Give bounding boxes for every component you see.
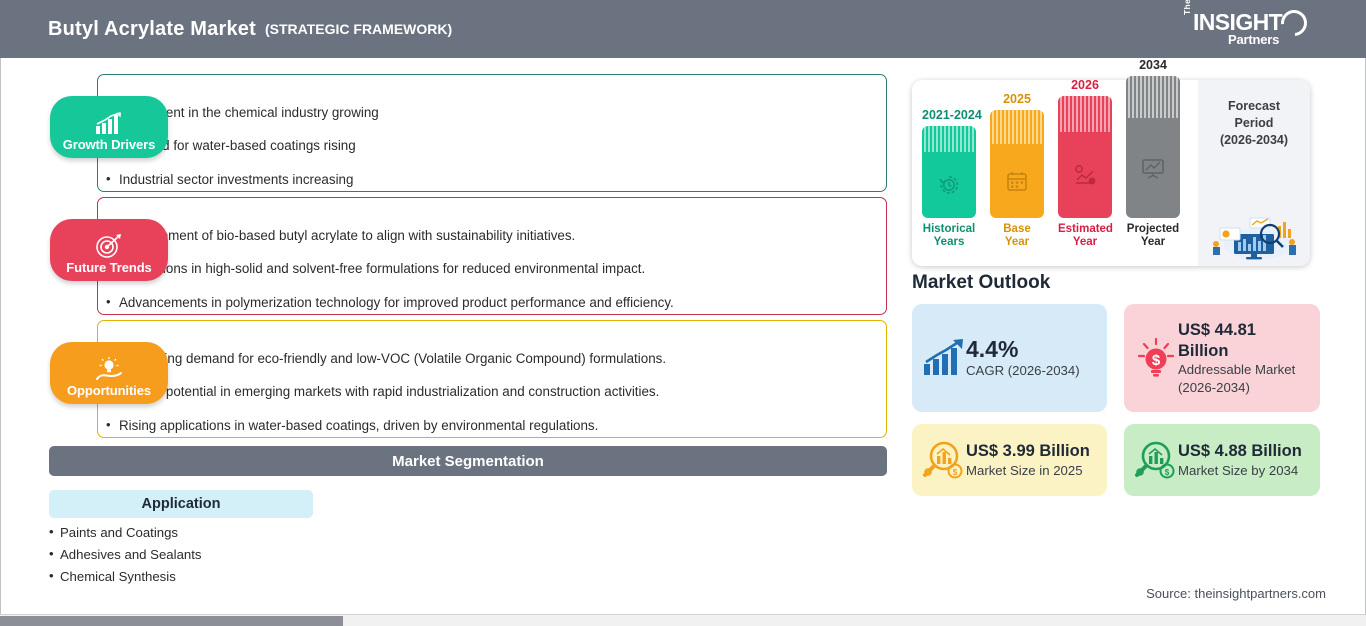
factor-badge-future-trends[interactable]: Future Trends	[50, 219, 168, 281]
page-subtitle: (STRATEGIC FRAMEWORK)	[265, 21, 452, 37]
timeline-column-historical: 2021-2024	[922, 109, 976, 249]
timeline-column-estimated: 2026	[1058, 79, 1112, 249]
outlook-card-label: Market Size in 2025	[966, 462, 1090, 479]
outlook-card-cagr: 4.4% CAGR (2026-2034)	[912, 304, 1107, 412]
forecast-period-panel: Forecast Period (2026-2034)	[1198, 80, 1310, 266]
list-item: Expanding demand for eco-friendly and lo…	[106, 352, 666, 365]
content-area: Investment in the chemical industry grow…	[0, 58, 1366, 614]
outlook-card-market-size-2025: $ US$ 3.99 Billion Market Size in 2025	[912, 424, 1107, 496]
timeline-caption: HistoricalYears	[922, 223, 976, 249]
timeline-year: 2026	[1058, 79, 1112, 92]
list-item: Advancements in polymerization technolog…	[106, 296, 674, 309]
scrollbar-thumb[interactable]	[0, 616, 343, 626]
outlook-card-label: Addressable Market (2026-2034)	[1178, 361, 1310, 395]
segment-category-label: Application	[142, 496, 221, 512]
calendar-icon	[990, 144, 1044, 218]
svg-text:$: $	[1165, 468, 1170, 477]
bar-chart-growth-icon	[94, 110, 124, 136]
market-outlook-title: Market Outlook	[912, 272, 1050, 294]
outlook-card-addressable-market: $ US$ 44.81 Billion Addressable Market (…	[1124, 304, 1320, 412]
outlook-card-text: US$ 4.88 Billion Market Size by 2034	[1178, 441, 1302, 479]
list-item: Rising applications in water-based coati…	[106, 419, 666, 432]
insight-partners-logo: The INSIGHT Partners	[1182, 9, 1306, 51]
magnifier-chart-icon: $	[920, 437, 966, 483]
svg-text:$: $	[1152, 352, 1161, 369]
outlook-card-text: 4.4% CAGR (2026-2034)	[966, 337, 1080, 379]
outlook-card-text: US$ 3.99 Billion Market Size in 2025	[966, 441, 1090, 479]
list-item: Innovations in high-solid and solvent-fr…	[106, 262, 674, 275]
forecast-period-text: Forecast Period (2026-2034)	[1198, 98, 1310, 149]
timeline-bar-stripes	[990, 110, 1044, 144]
factor-badge-label: Opportunities	[67, 384, 151, 404]
outlook-card-value: US$ 44.81 Billion	[1178, 320, 1310, 361]
outlook-card-value: US$ 4.88 Billion	[1178, 441, 1302, 462]
timeline-year: 2034	[1126, 59, 1180, 72]
analytics-dashboard-illustration	[1206, 204, 1302, 260]
magnifier-chart-icon: $	[1132, 437, 1178, 483]
timeline-bar	[922, 126, 976, 218]
infographic-page: Butyl Acrylate Market (STRATEGIC FRAMEWO…	[0, 0, 1366, 626]
lightbulb-hand-icon	[94, 356, 124, 382]
left-column: Investment in the chemical industry grow…	[1, 58, 901, 614]
logo-insight-text: INSIGHT	[1193, 11, 1282, 34]
timeline-bar	[1058, 96, 1112, 218]
segment-item-list: Paints and Coatings Adhesives and Sealan…	[49, 526, 202, 593]
forecast-chart-icon	[1058, 132, 1112, 218]
target-dart-icon	[95, 233, 123, 259]
growth-bar-chart-icon	[922, 338, 966, 378]
right-column: 2021-2024	[901, 58, 1366, 614]
presentation-chart-icon	[1126, 118, 1180, 218]
timeline-bar	[990, 110, 1044, 218]
factor-badge-label: Growth Drivers	[63, 138, 156, 158]
timeline-caption: ProjectedYear	[1126, 223, 1180, 249]
outlook-card-label: CAGR (2026-2034)	[966, 362, 1080, 379]
factor-bullet-list: Expanding demand for eco-friendly and lo…	[106, 352, 666, 452]
segment-category-header: Application	[49, 490, 313, 518]
outlook-card-value: US$ 3.99 Billion	[966, 441, 1090, 462]
svg-text:$: $	[953, 468, 958, 477]
list-item: Industrial sector investments increasing	[106, 173, 379, 186]
factor-badge-growth-drivers[interactable]: Growth Drivers	[50, 96, 168, 158]
list-item: Chemical Synthesis	[49, 570, 202, 583]
clock-history-icon	[922, 152, 976, 218]
horizontal-scrollbar[interactable]	[0, 614, 1366, 626]
timeline-column-projected: 2034	[1126, 59, 1180, 249]
timeline-year: 2025	[990, 93, 1044, 106]
dollar-bulb-icon: $	[1134, 336, 1178, 380]
timeline-bar	[1126, 76, 1180, 218]
page-header: Butyl Acrylate Market (STRATEGIC FRAMEWO…	[0, 0, 1366, 58]
market-segmentation-bar: Market Segmentation	[49, 446, 887, 476]
timeline-bar-stripes	[1126, 76, 1180, 118]
timeline-caption: EstimatedYear	[1058, 223, 1112, 249]
timeline-year: 2021-2024	[922, 109, 976, 122]
timeline-bar-stripes	[922, 126, 976, 152]
market-timeline-card: 2021-2024	[912, 80, 1310, 266]
list-item: Adhesives and Sealants	[49, 548, 202, 561]
outlook-card-market-size-2034: $ US$ 4.88 Billion Market Size by 2034	[1124, 424, 1320, 496]
timeline-bars: 2021-2024	[912, 80, 1198, 266]
outlook-card-label: Market Size by 2034	[1178, 462, 1302, 479]
timeline-column-base: 2025	[990, 93, 1044, 249]
factor-badge-label: Future Trends	[66, 261, 151, 281]
logo-partners-text: Partners	[1228, 33, 1279, 46]
factor-badge-opportunities[interactable]: Opportunities	[50, 342, 168, 404]
factor-bullet-list: Development of bio-based butyl acrylate …	[106, 229, 674, 329]
source-attribution: Source: theinsightpartners.com	[1146, 586, 1326, 601]
market-segmentation-title: Market Segmentation	[392, 453, 544, 470]
timeline-bar-stripes	[1058, 96, 1112, 132]
list-item: Growth potential in emerging markets wit…	[106, 385, 666, 398]
page-title: Butyl Acrylate Market	[48, 18, 256, 41]
logo-the-text: The	[1182, 0, 1192, 15]
outlook-card-text: US$ 44.81 Billion Addressable Market (20…	[1178, 320, 1310, 396]
outlook-card-value: 4.4%	[966, 337, 1080, 362]
list-item: Paints and Coatings	[49, 526, 202, 539]
timeline-caption: BaseYear	[990, 223, 1044, 249]
list-item: Development of bio-based butyl acrylate …	[106, 229, 674, 242]
